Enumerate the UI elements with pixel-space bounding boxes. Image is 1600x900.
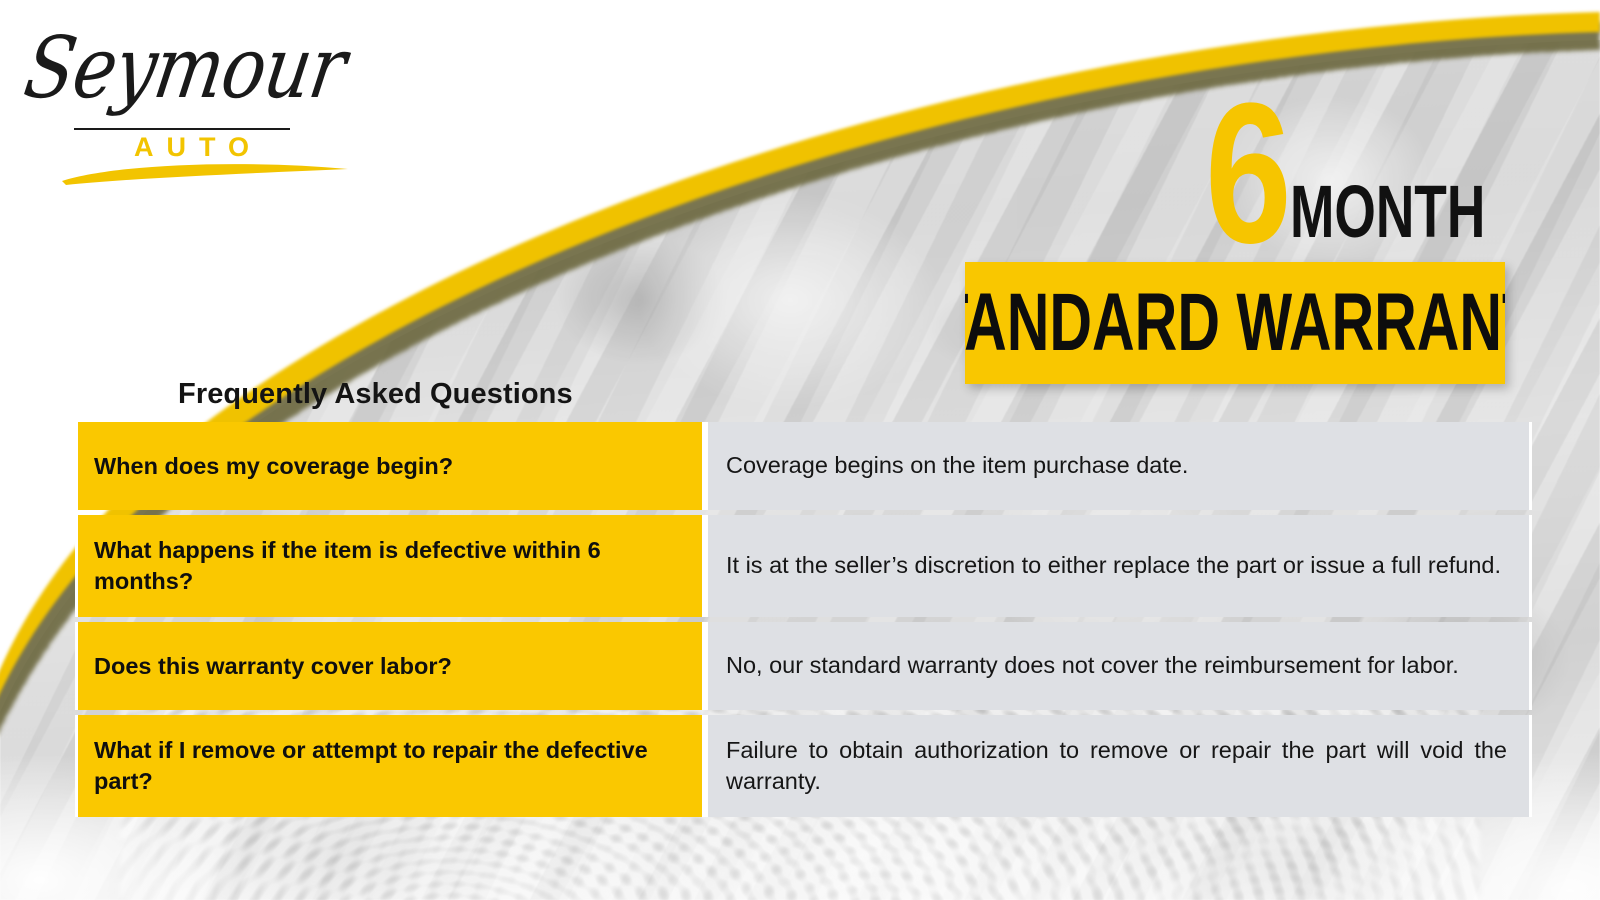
page-title: Frequently Asked Questions: [178, 378, 573, 411]
faq-question: What if I remove or attempt to repair th…: [75, 715, 705, 817]
banner-title: STANDARD WARRANTY: [965, 282, 1505, 364]
logo-auto-word: AUTO: [134, 132, 262, 163]
faq-question: Does this warranty cover labor?: [75, 622, 705, 710]
table-row: What if I remove or attempt to repair th…: [75, 715, 1532, 817]
logo-underline: [74, 128, 290, 130]
logo-script-wordmark: Seymour: [18, 18, 352, 117]
table-row: What happens if the item is defective wi…: [75, 515, 1532, 617]
faq-answer: Coverage begins on the item purchase dat…: [705, 422, 1532, 510]
faq-answer: No, our standard warranty does not cover…: [705, 622, 1532, 710]
seymour-auto-logo: Seymour AUTO: [30, 22, 330, 172]
warranty-term: 6 MONTH: [1205, 72, 1562, 252]
table-row: Does this warranty cover labor? No, our …: [75, 622, 1532, 710]
warranty-slide: Seymour AUTO 6 MONTH STANDARD WARRANTY F…: [0, 0, 1600, 900]
faq-answer: It is at the seller’s discretion to eith…: [705, 515, 1532, 617]
faq-question: What happens if the item is defective wi…: [75, 515, 705, 617]
term-number: 6: [1205, 96, 1289, 252]
faq-table: When does my coverage begin? Coverage be…: [75, 422, 1532, 817]
table-row: When does my coverage begin? Coverage be…: [75, 422, 1532, 510]
faq-answer: Failure to obtain authorization to remov…: [705, 715, 1532, 817]
standard-warranty-banner: STANDARD WARRANTY: [965, 262, 1505, 384]
swoosh-underline-icon: [60, 160, 350, 186]
term-unit: MONTH: [1290, 180, 1485, 244]
faq-question: When does my coverage begin?: [75, 422, 705, 510]
